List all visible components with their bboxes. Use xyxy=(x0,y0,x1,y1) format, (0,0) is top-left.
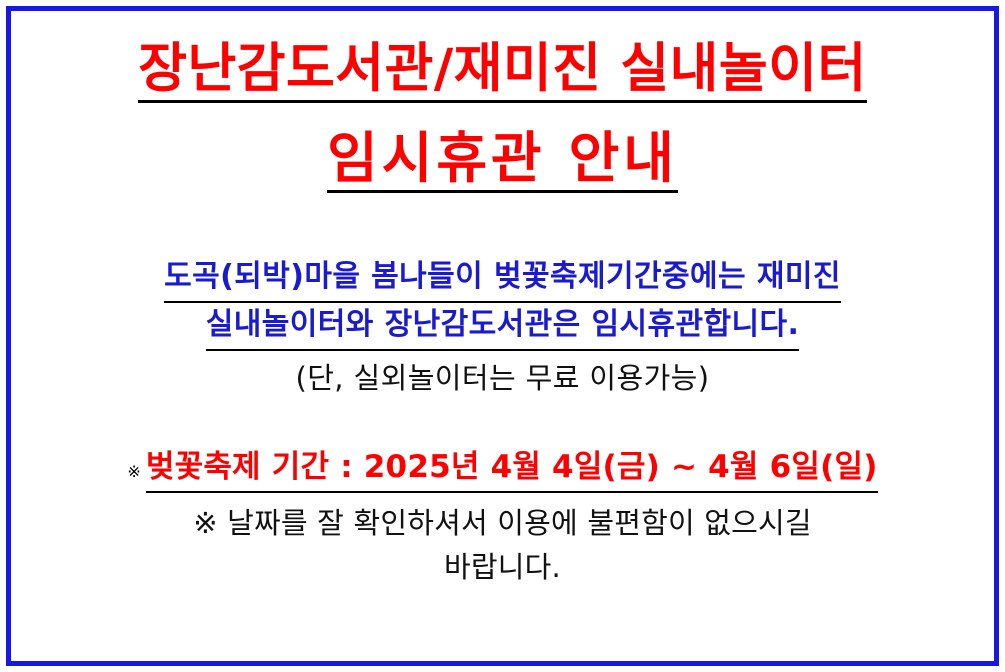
notice-body-line-1: 도곡(되박)마을 봄나들이 벚꽃축제기간중에는 재미진 xyxy=(11,255,994,303)
title-block: 장난감도서관/재미진 실내놀이터 임시휴관 안내 xyxy=(11,41,994,193)
notice-footnote-line-2-text: 바랍니다. xyxy=(444,547,561,588)
notice-title-line-2-text: 임시휴관 안내 xyxy=(327,129,678,193)
notice-body-line-2-text: 실내놀이터와 장난감도서관은 임시휴관합니다. xyxy=(206,303,800,351)
notice-title-line-2: 임시휴관 안내 xyxy=(11,129,994,193)
notice-body-line-1-text: 도곡(되박)마을 봄나들이 벚꽃축제기간중에는 재미진 xyxy=(164,255,841,303)
notice-body-line-3-text: (단, 실외놀이터는 무료 이용가능) xyxy=(296,357,710,399)
notice-footnote-line-2: 바랍니다. xyxy=(11,547,994,588)
notice-page: 장난감도서관/재미진 실내놀이터 임시휴관 안내 도곡(되박)마을 봄나들이 벚… xyxy=(0,0,1005,672)
notice-footnote-line-1-text: ※ 날짜를 잘 확인하셔서 이용에 불편함이 없으시길 xyxy=(193,503,812,544)
reference-mark-icon: ※ xyxy=(127,462,140,481)
notice-footnote-line-1: ※ 날짜를 잘 확인하셔서 이용에 불편함이 없으시길 xyxy=(11,503,994,544)
notice-body-block: 도곡(되박)마을 봄나들이 벚꽃축제기간중에는 재미진 실내놀이터와 장난감도서… xyxy=(11,255,994,399)
notice-border-frame: 장난감도서관/재미진 실내놀이터 임시휴관 안내 도곡(되박)마을 봄나들이 벚… xyxy=(6,6,999,666)
notice-title-line-1: 장난감도서관/재미진 실내놀이터 xyxy=(11,41,994,103)
notice-body-line-3: (단, 실외놀이터는 무료 이용가능) xyxy=(11,357,994,399)
festival-period-text: 벚꽃축제 기간 : 2025년 4월 4일(금) ~ 4월 6일(일) xyxy=(146,445,878,493)
notice-body-line-2: 실내놀이터와 장난감도서관은 임시휴관합니다. xyxy=(11,303,994,351)
notice-title-line-1-text: 장난감도서관/재미진 실내놀이터 xyxy=(138,41,866,103)
festival-period-line: ※ 벚꽃축제 기간 : 2025년 4월 4일(금) ~ 4월 6일(일) xyxy=(11,445,994,493)
notice-note-block: ※ 벚꽃축제 기간 : 2025년 4월 4일(금) ~ 4월 6일(일) ※ … xyxy=(11,445,994,587)
